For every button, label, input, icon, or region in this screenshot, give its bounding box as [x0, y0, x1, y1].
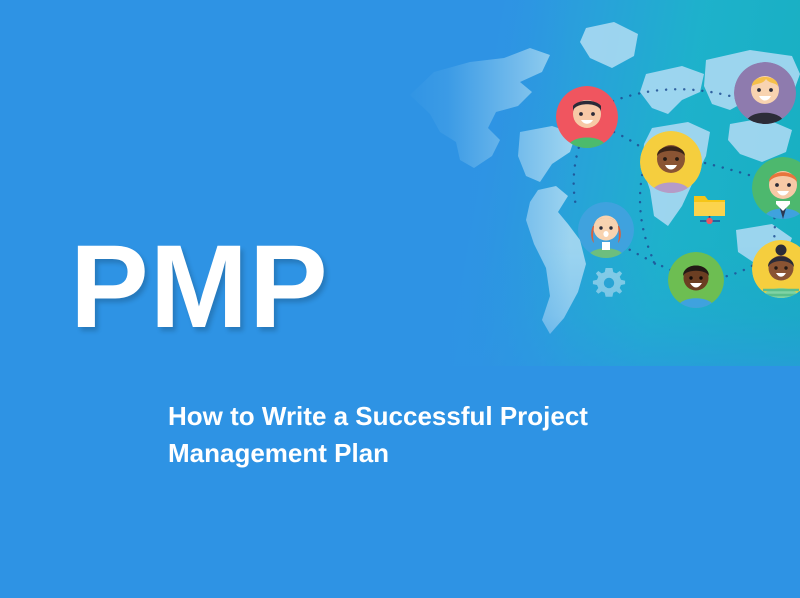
illustration-global-team [400, 0, 800, 366]
avatar-pacific-woman [578, 202, 634, 258]
avatar-south-america-man [668, 252, 724, 308]
world-map-graphic [400, 0, 800, 366]
presentation-slide: PMP How to Write a Successful Project Ma… [0, 0, 800, 598]
page-title: PMP [70, 228, 329, 346]
avatar-north-america-man [556, 86, 618, 148]
avatar-europe-woman [734, 62, 796, 124]
folder-icon [692, 190, 728, 224]
page-subtitle: How to Write a Successful Project Manage… [168, 398, 698, 472]
gear-icon [590, 264, 628, 302]
avatar-atlantic-man [640, 131, 702, 193]
